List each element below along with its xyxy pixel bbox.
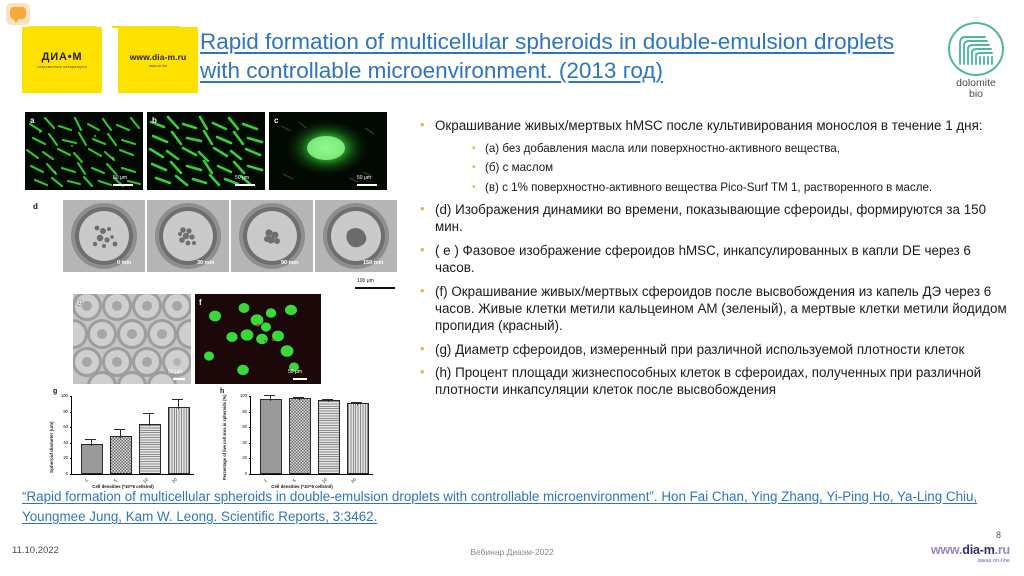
bullet-item-5: • (h) Процент площади жизнеспособных кле… [420,365,1008,399]
chart-h-tickmark-60 [249,427,252,428]
chart-h-xtick-4: 20 [350,477,357,484]
chart-h-ytick-80: 80 [233,409,247,414]
diam-logo: ДИА•М современные лаборатории [22,27,102,93]
chart-h-tickmark-0 [249,474,252,475]
panel-d-label: d [33,202,38,211]
chart-g-tickmark-20 [70,458,73,459]
panel-f-spheroids [195,294,321,384]
chart-h-ytick-60: 60 [233,424,247,429]
chart-h-errorcap-3 [322,399,333,400]
panel-c-label: c [274,116,278,125]
chart-g-errorcap-4 [172,399,183,400]
sub-bullet-item: • (в) с 1% поверхностно-активного вещест… [472,181,1008,195]
sub-bullet-marker: • [472,161,477,175]
chart-h-errorcap-1 [264,395,275,396]
sub-bullet-text: (а) без добавления масла или поверхностн… [485,142,840,156]
chart-h-ytick-100: 100 [233,393,247,398]
bullet-item-4: • (g) Диаметр сфероидов, измеренный при … [420,342,1008,359]
diam-logo-name: ДИА•М [42,51,83,63]
chart-h-error-2 [299,398,300,400]
chart-h-error-4 [357,403,358,405]
diam-url-subtitle: заказ on-line [149,64,167,68]
chart-g-bar-2 [110,436,132,474]
figure-panel-group: a 50 μm b 50 μm [25,112,405,492]
panel-a-scalebar-label: 50 μm [113,175,127,181]
footer-logo-tld: .ru [995,543,1010,557]
bullet-marker: • [420,243,426,277]
sub-bullet-item: • (а) без добавления масла или поверхнос… [472,142,1008,156]
panel-d-droplet-1 [63,200,145,272]
chart-h-error-1 [270,396,271,400]
chart-g-errorcap-3 [143,413,154,414]
chart-g-plot-area: 100 80 60 40 20 0 1 [71,396,194,475]
chart-g-ytick-0: 0 [54,471,68,476]
chart-g-error-1 [91,440,92,446]
slide-title: Rapid formation of multicellular spheroi… [200,28,935,86]
bullet-marker: • [420,202,426,236]
chart-g-xtick-2: 5 [113,478,118,483]
panel-d-frame-3 [231,200,313,272]
chart-h-ylabel: Percentage of live cell area in spheroid… [222,394,227,480]
chart-h-error-3 [328,400,329,402]
dolomite-circle-icon [948,22,1004,76]
chart-h-bar-1 [260,399,282,474]
chart-g-tickmark-0 [70,474,73,475]
panel-e-scalebar-label: 50 μm [168,369,182,375]
footer-dia-m-logo: www.dia-m.ru заказ on-line [931,543,1010,564]
panel-d-time-4: 150 min [363,260,383,266]
panel-f-scalebar [293,378,307,380]
bullet-marker: • [420,118,426,135]
bullet-text: ( e ) Фазовое изображение сфероидов hMSC… [435,243,1008,277]
chart-h-plot-area: 100 80 60 40 20 0 1 5 [250,396,373,475]
bullet-marker: • [420,342,426,359]
chart-h-errorcap-4 [351,402,362,403]
chart-g-error-4 [178,400,179,409]
dolomite-bio-logo: dolomite bio [942,22,1010,100]
chart-h-ytick-40: 40 [233,440,247,445]
sub-bullet-marker: • [472,142,477,156]
chart-g-ytick-20: 20 [54,455,68,460]
panel-e-label: e [77,298,81,307]
bullet-sublist-0: • (а) без добавления масла или поверхнос… [472,142,1008,195]
footer-logo-www: www. [931,543,962,557]
sub-bullet-marker: • [472,181,477,195]
chart-h-ytick-0: 0 [233,471,247,476]
panel-d-frame-2 [147,200,229,272]
bullet-text: Окрашивание живых/мертвых hMSC после кул… [435,118,983,135]
panel-e-scalebar [173,378,185,380]
bullet-marker: • [420,284,426,335]
dolomite-line2: bio [956,89,996,100]
panel-c-scalebar-label: 50 μm [357,175,371,181]
panel-f-image [195,294,321,384]
chart-g-error-2 [120,430,121,438]
footer-webinar-label: Вебинар Диаэм-2022 [0,547,1024,557]
chart-g-xtick-1: 1 [84,478,89,483]
chart-g-errorcap-2 [114,429,125,430]
panel-b-label: b [152,116,157,125]
bullet-list: • Окрашивание живых/мертвых hMSC после к… [420,118,1008,406]
dolomite-logo-text: dolomite bio [956,78,996,100]
bullet-item-1: • (d) Изображения динамики во времени, п… [420,202,1008,236]
chart-g-tickmark-80 [70,412,73,413]
bullet-text: (f) Окрашивание живых/мертвых сфероидов … [435,284,1008,335]
chart-h-bar-2 [289,398,311,474]
panel-d-scalebar-label: 100 μm [357,278,374,284]
chart-g-tickmark-40 [70,443,73,444]
bullet-item-3: • (f) Окрашивание живых/мертвых сфероидо… [420,284,1008,335]
chart-g-tickmark-60 [70,427,73,428]
sub-bullet-text: (в) с 1% поверхностно-активного вещества… [485,181,932,195]
chart-g-bar-3 [139,424,161,474]
chart-g-ytick-100: 100 [54,393,68,398]
chart-h-ytick-20: 20 [233,455,247,460]
panel-d-time-3: 90 min [281,260,298,266]
panel-b-scalebar-label: 50 μm [235,175,249,181]
diam-url-logo: www.dia-m.ru заказ on-line [118,27,198,93]
chart-h: h Percentage of live cell area in sphero… [208,388,388,492]
panel-c-scalebar [357,184,377,186]
chart-h-xtick-2: 5 [292,478,297,483]
panel-f-scalebar-label: 50 μm [288,369,302,375]
footer-logo-url: www.dia-m.ru [931,543,1010,557]
chart-g-ytick-40: 40 [54,440,68,445]
panel-d-frame-1 [63,200,145,272]
panel-a-scalebar [113,184,133,186]
bullet-text: (g) Диаметр сфероидов, измеренный при ра… [435,342,964,359]
panel-d-time-2: 30 min [197,260,214,266]
comment-icon[interactable] [6,3,30,25]
chart-g-errorcap-1 [85,439,96,440]
panel-d-droplet-4 [315,200,397,272]
chart-h-xtick-3: 10 [321,477,328,484]
chart-g: g Spheroid diameter (um) 100 80 60 40 20… [33,388,208,492]
chart-g-ytick-60: 60 [54,424,68,429]
panel-d-frame-4 [315,200,397,272]
chart-h-tickmark-20 [249,458,252,459]
panel-d-droplet-3 [231,200,313,272]
panel-b-scalebar [235,184,255,186]
chart-h-tickmark-100 [249,396,252,397]
microfluidic-channel-icon [950,24,1002,76]
comment-tail-shape [12,17,20,23]
chart-h-bar-4 [347,403,369,474]
bullet-text: (d) Изображения динамики во времени, пок… [435,202,1008,236]
footer-logo-domain: dia-m [962,543,994,557]
chart-h-errorcap-2 [293,397,304,398]
chart-h-tickmark-40 [249,443,252,444]
diam-url-text: www.dia-m.ru [130,52,187,62]
panel-a-label: a [30,116,34,125]
bullet-item-2: • ( e ) Фазовое изображение сфероидов hM… [420,243,1008,277]
chart-h-bar-3 [318,400,340,474]
footer-logo-subtitle: заказ on-line [931,558,1010,564]
bullet-item-0: • Окрашивание живых/мертвых hMSC после к… [420,118,1008,135]
chart-g-tickmark-100 [70,396,73,397]
sub-bullet-text: (б) с маслом [485,161,553,175]
chart-g-xtick-4: 20 [171,477,178,484]
chart-g-bar-4 [168,407,190,474]
bullet-marker: • [420,365,426,399]
diam-logo-subtitle: современные лаборатории [37,65,87,69]
panel-d-scalebar [355,287,395,289]
bullet-text: (h) Процент площади жизнеспособных клето… [435,365,1008,399]
chart-h-tickmark-80 [249,412,252,413]
chart-g-ytick-80: 80 [54,409,68,414]
page-number: 8 [996,530,1001,540]
chart-h-xtick-1: 1 [263,478,268,483]
chart-g-xtick-3: 10 [142,477,149,484]
panel-d-droplet-2 [147,200,229,272]
chart-g-bar-1 [81,444,103,474]
panel-d-time-1: 0 min [117,260,131,266]
sub-bullet-item: • (б) с маслом [472,161,1008,175]
panel-f-label: f [199,298,202,307]
chart-g-error-3 [149,414,150,426]
citation-link[interactable]: “Rapid formation of multicellular sphero… [22,487,997,527]
